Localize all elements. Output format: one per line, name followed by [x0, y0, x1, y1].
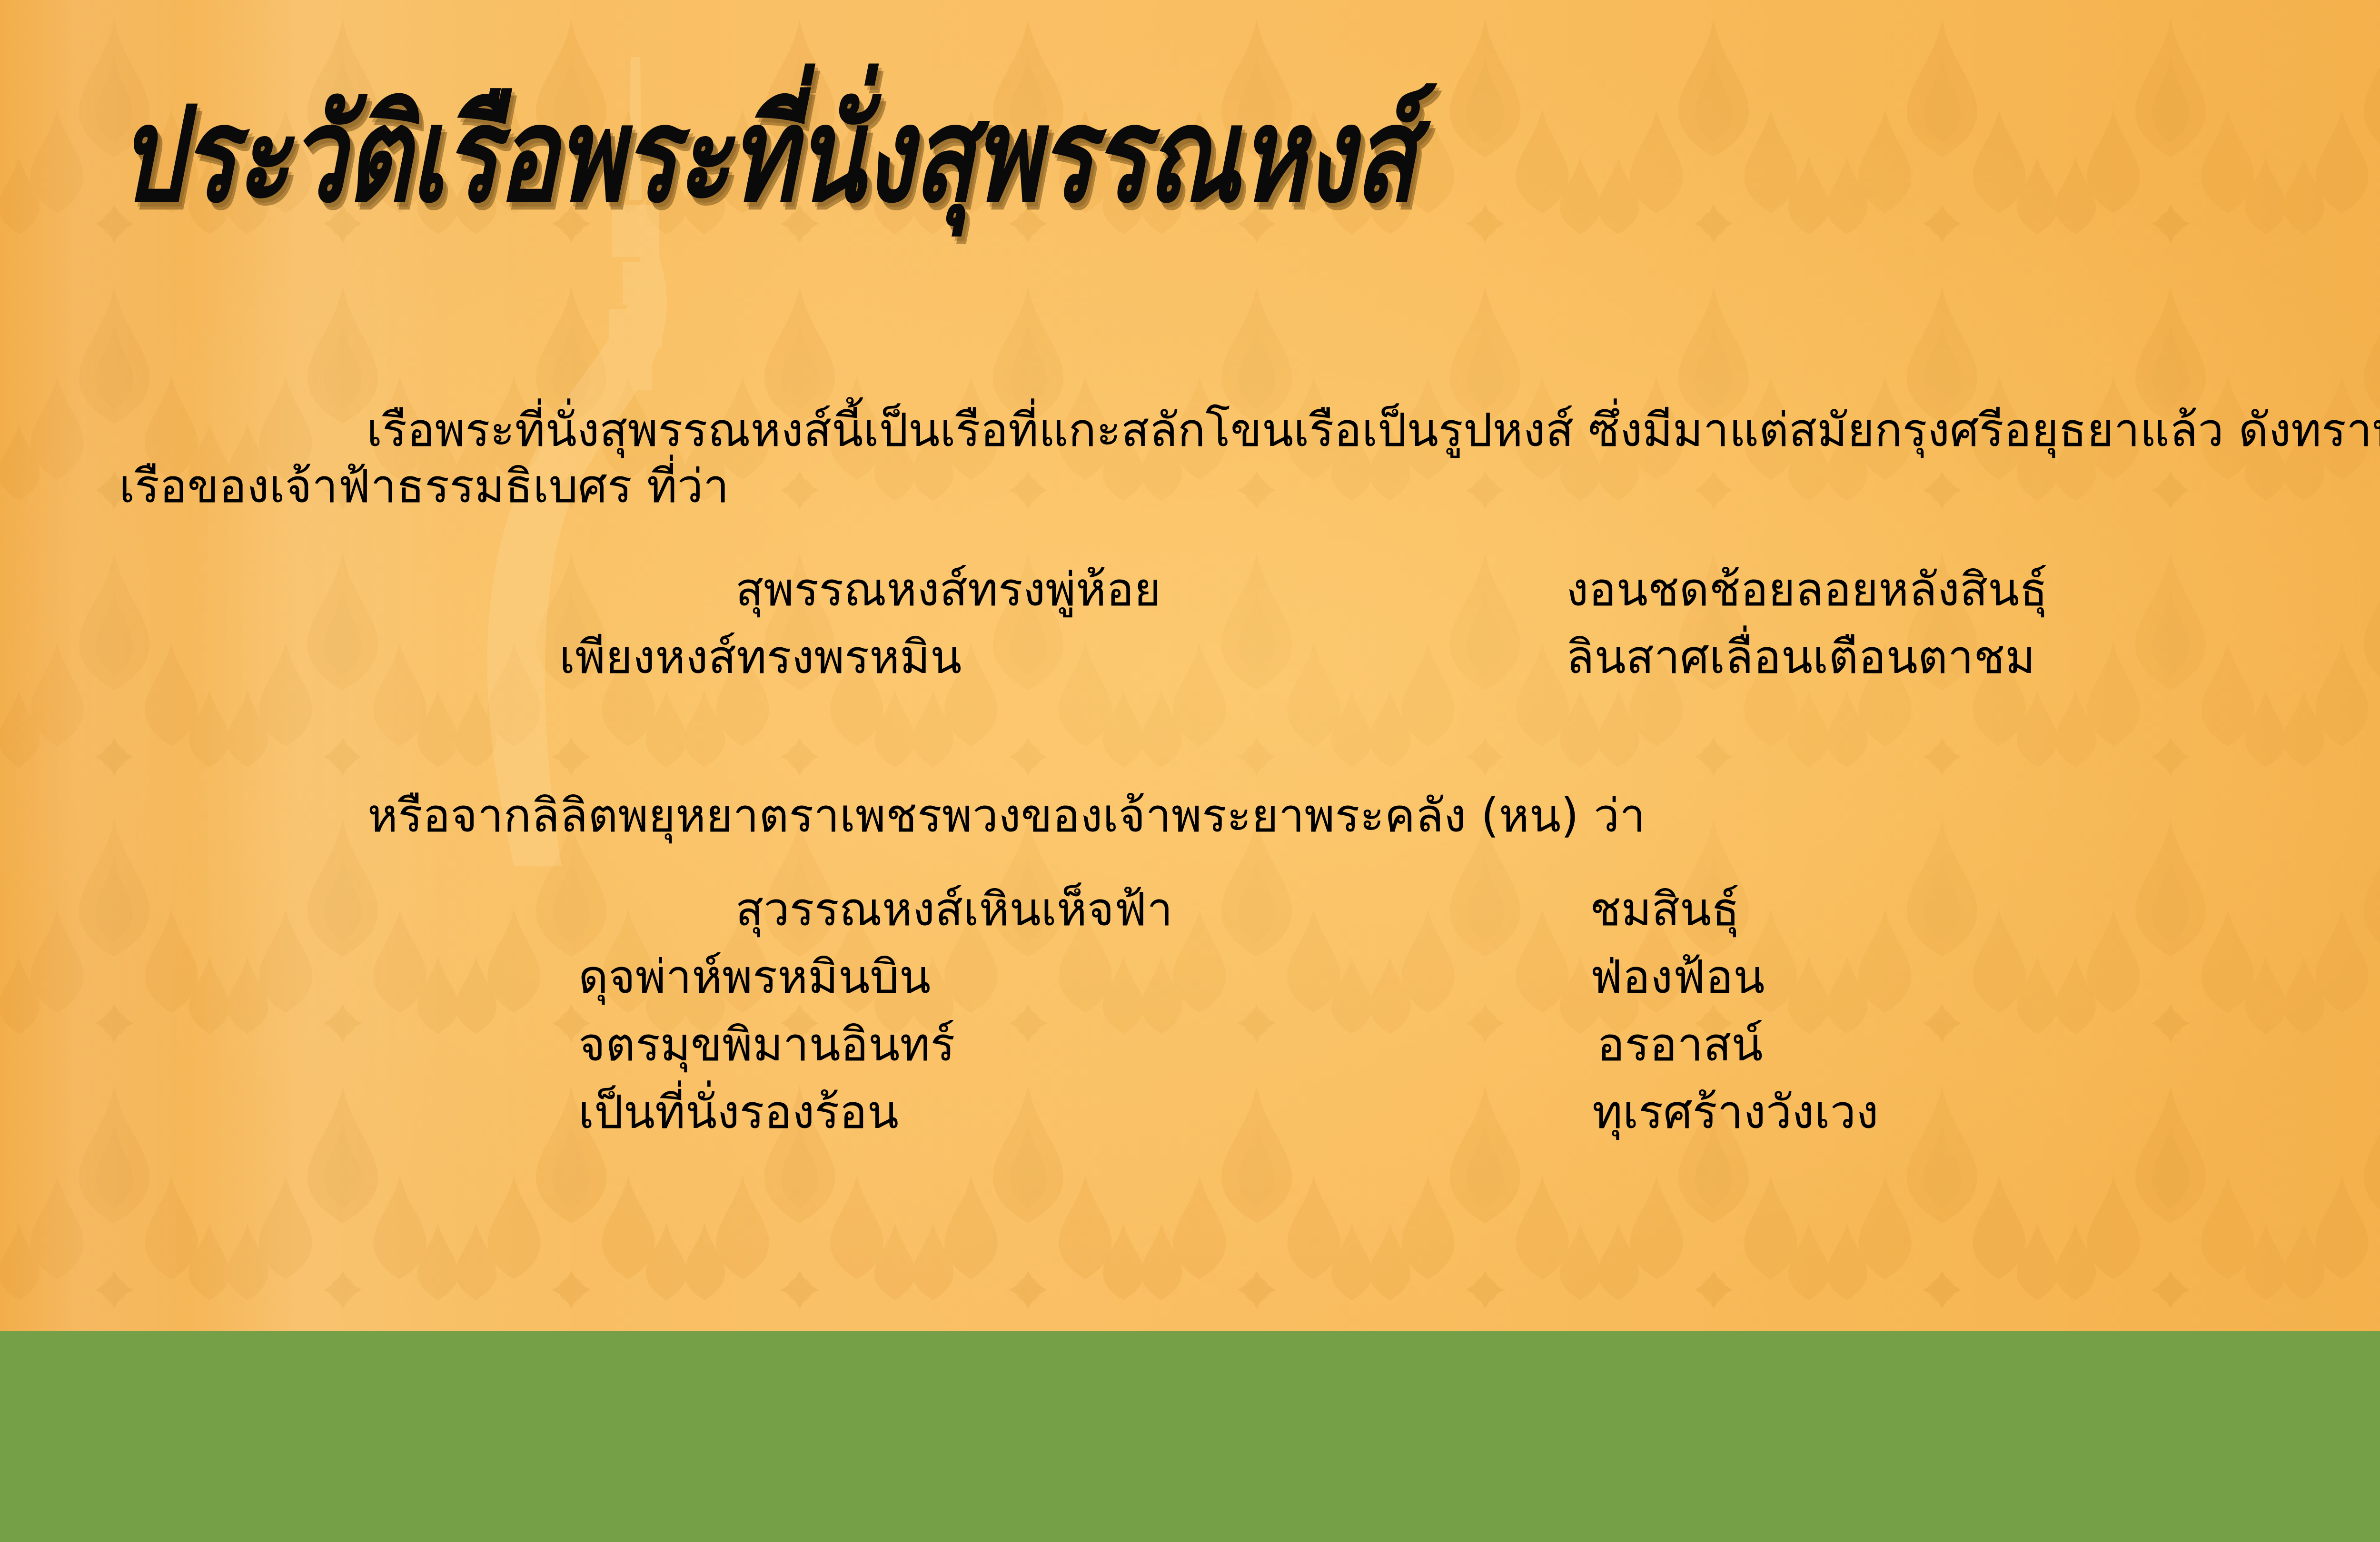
verse-row: สุพรรณหงส์ทรงพู่ห้อย งอนชดช้อยลอยหลังสิน… — [0, 556, 2380, 623]
verse-line-left: สุวรรณหงส์เหินเห็จฟ้า — [735, 876, 1173, 943]
verse-line-right: ทุเรศร้างวังเวง — [1592, 1078, 1879, 1146]
verse-block-lilit: สุวรรณหงส์เหินเห็จฟ้า ชมสินธุ์ ดุจพ่าห์พ… — [0, 876, 2380, 1146]
verse-line-left: เป็นที่นั่งรองร้อน — [578, 1078, 899, 1146]
verse-line-left: จตรมุขพิมานอินทร์ — [578, 1011, 955, 1078]
source-two-intro: หรือจากลิลิตพยุหยาตราเพชรพวงของเจ้าพระยา… — [367, 788, 1646, 844]
intro-paragraph: เรือพระที่นั่งสุพรรณหงส์นี้เป็นเรือที่แก… — [119, 402, 2380, 514]
verse-line-left: เพียงหงส์ทรงพรหมิน — [559, 623, 962, 691]
verse-row: ดุจพ่าห์พรหมินบิน ฟ่องฟ้อน — [0, 943, 2380, 1011]
verse-row: จตรมุขพิมานอินทร์ อรอาสน์ — [0, 1011, 2380, 1078]
verse-row: เป็นที่นั่งรองร้อน ทุเรศร้างวังเวง — [0, 1078, 2380, 1146]
verse-row: สุวรรณหงส์เหินเห็จฟ้า ชมสินธุ์ — [0, 876, 2380, 943]
verse-line-right: งอนชดช้อยลอยหลังสินธุ์ — [1566, 556, 2048, 623]
verse-line-left: ดุจพ่าห์พรหมินบิน — [578, 943, 931, 1011]
verse-row: เพียงหงส์ทรงพรหมิน ลินสาศเลื่อนเตือนตาชม — [0, 623, 2380, 691]
verse-line-right: ฟ่องฟ้อน — [1590, 943, 1765, 1011]
slide-body: เรือพระที่นั่งสุพรรณหงส์นี้เป็นเรือที่แก… — [0, 0, 2380, 1331]
verse-line-right: ชมสินธุ์ — [1590, 876, 1740, 943]
verse-block-he-ruea: สุพรรณหงส์ทรงพู่ห้อย งอนชดช้อยลอยหลังสิน… — [0, 556, 2380, 691]
presentation-slide: ประวัติเรือพระที่นั่งสุพรรณหงส์ เรือพระท… — [0, 0, 2380, 1542]
footer-band — [0, 1331, 2380, 1542]
verse-line-right: อรอาสน์ — [1597, 1011, 1763, 1078]
verse-line-left: สุพรรณหงส์ทรงพู่ห้อย — [735, 556, 1161, 623]
verse-line-right: ลินสาศเลื่อนเตือนตาชม — [1566, 623, 2035, 691]
